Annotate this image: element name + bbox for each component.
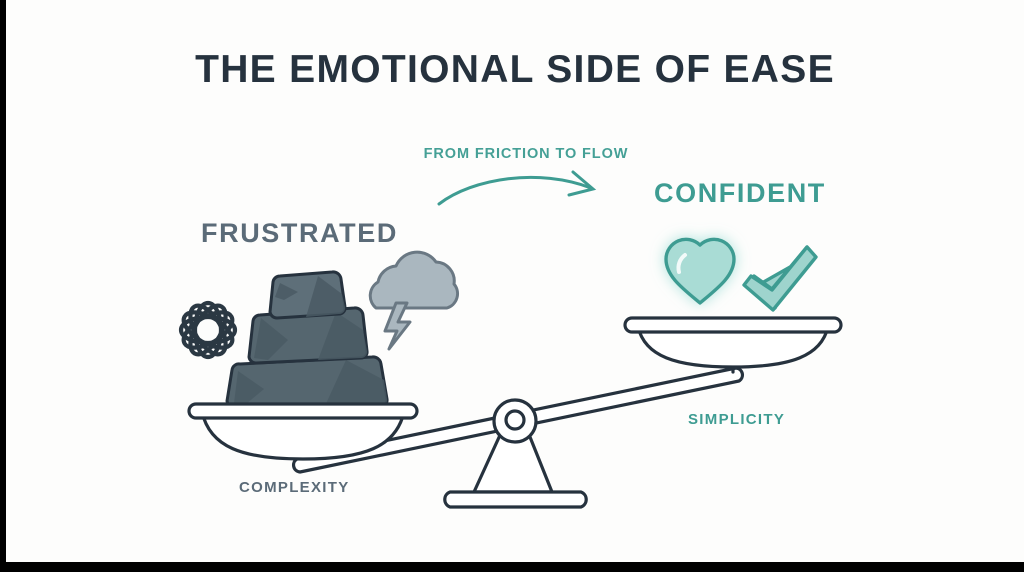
slide-stage: THE EMOTIONAL SIDE OF EASE FROM FRICTION… (0, 0, 1024, 572)
slide-canvas: THE EMOTIONAL SIDE OF EASE FROM FRICTION… (6, 0, 1024, 562)
storm-cloud-icon (370, 252, 457, 349)
tangled-knot-icon (178, 300, 238, 360)
rock-bottom (227, 357, 387, 408)
checkmark-icon (744, 247, 816, 310)
frame-bottom-border (0, 562, 1024, 572)
frame-left-border (0, 0, 6, 572)
balance-scale-illustration (6, 0, 1024, 562)
heart-icon (666, 239, 734, 303)
rock-top (270, 272, 345, 318)
scale-pan-right (625, 318, 841, 372)
